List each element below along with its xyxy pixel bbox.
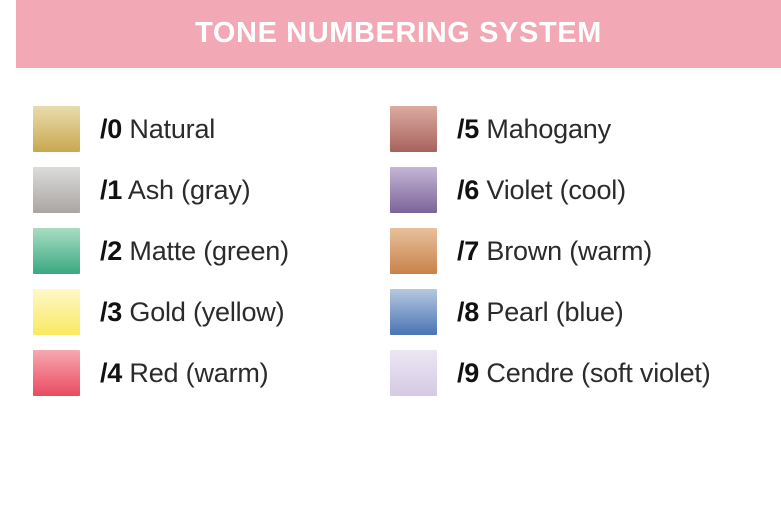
legend-row: /9 Cendre (soft violet) <box>390 350 711 396</box>
legend-code: /0 <box>100 114 122 144</box>
tone-legend: /0 Natural/1 Ash (gray)/2 Matte (green)/… <box>0 68 781 517</box>
legend-label: /7 Brown (warm) <box>457 238 652 265</box>
legend-row: /4 Red (warm) <box>33 350 268 396</box>
red-swatch <box>33 350 80 396</box>
legend-code: /8 <box>457 297 479 327</box>
legend-code: /1 <box>100 175 122 205</box>
pearl-swatch <box>390 289 437 335</box>
legend-code: /4 <box>100 358 122 388</box>
legend-name: Gold (yellow) <box>122 297 284 327</box>
legend-label: /0 Natural <box>100 116 215 143</box>
legend-name: Matte (green) <box>122 236 289 266</box>
legend-name: Natural <box>122 114 215 144</box>
ash-swatch <box>33 167 80 213</box>
legend-row: /0 Natural <box>33 106 215 152</box>
legend-name: Ash (gray) <box>122 175 250 205</box>
mahogany-swatch <box>390 106 437 152</box>
legend-row: /7 Brown (warm) <box>390 228 652 274</box>
legend-label: /9 Cendre (soft violet) <box>457 360 711 387</box>
legend-code: /5 <box>457 114 479 144</box>
legend-name: Violet (cool) <box>479 175 626 205</box>
page-title: TONE NUMBERING SYSTEM <box>195 19 602 48</box>
legend-label: /6 Violet (cool) <box>457 177 626 204</box>
legend-code: /2 <box>100 236 122 266</box>
legend-name: Pearl (blue) <box>479 297 623 327</box>
legend-row: /2 Matte (green) <box>33 228 289 274</box>
gold-swatch <box>33 289 80 335</box>
legend-row: /3 Gold (yellow) <box>33 289 284 335</box>
legend-row: /1 Ash (gray) <box>33 167 250 213</box>
legend-code: /9 <box>457 358 479 388</box>
legend-name: Red (warm) <box>122 358 268 388</box>
matte-swatch <box>33 228 80 274</box>
header-banner: TONE NUMBERING SYSTEM <box>16 0 781 68</box>
legend-label: /3 Gold (yellow) <box>100 299 284 326</box>
legend-label: /8 Pearl (blue) <box>457 299 624 326</box>
legend-row: /8 Pearl (blue) <box>390 289 624 335</box>
legend-row: /5 Mahogany <box>390 106 611 152</box>
violet-swatch <box>390 167 437 213</box>
legend-name: Cendre (soft violet) <box>479 358 710 388</box>
legend-code: /7 <box>457 236 479 266</box>
legend-code: /6 <box>457 175 479 205</box>
legend-label: /1 Ash (gray) <box>100 177 250 204</box>
legend-code: /3 <box>100 297 122 327</box>
cendre-swatch <box>390 350 437 396</box>
legend-name: Mahogany <box>479 114 611 144</box>
legend-label: /4 Red (warm) <box>100 360 268 387</box>
legend-label: /5 Mahogany <box>457 116 611 143</box>
brown-swatch <box>390 228 437 274</box>
legend-label: /2 Matte (green) <box>100 238 289 265</box>
natural-swatch <box>33 106 80 152</box>
legend-row: /6 Violet (cool) <box>390 167 626 213</box>
legend-name: Brown (warm) <box>479 236 652 266</box>
